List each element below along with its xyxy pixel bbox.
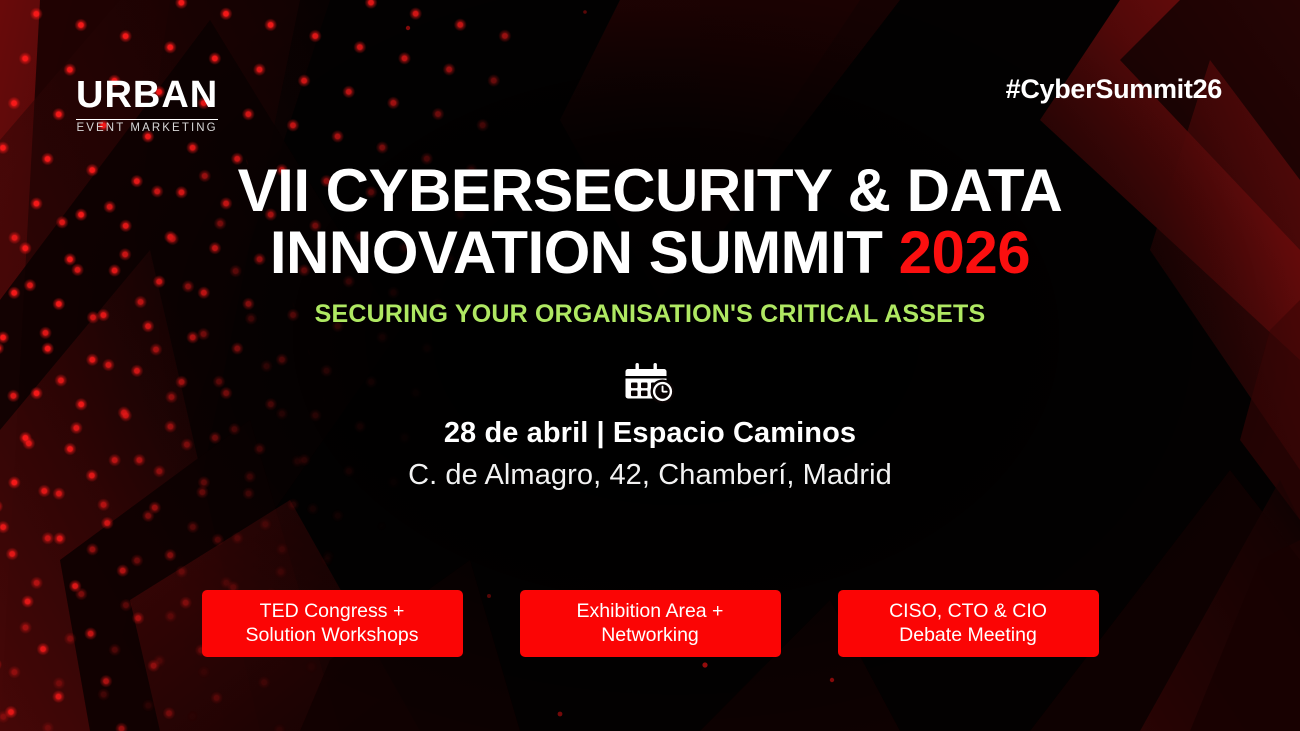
brand-logo[interactable]: URBAN EVENT MARKETING <box>76 76 218 135</box>
track-label-line-1: Exhibition Area + <box>577 600 724 622</box>
event-poster: URBAN EVENT MARKETING #CyberSummit26 VII… <box>0 0 1300 731</box>
title-line-2-text: INNOVATION SUMMIT <box>270 219 883 286</box>
track-label-line-2: Debate Meeting <box>899 624 1037 646</box>
logo-divider <box>76 119 218 120</box>
event-hashtag: #CyberSummit26 <box>1006 74 1222 105</box>
title-year: 2026 <box>899 219 1030 286</box>
logo-tagline: EVENT MARKETING <box>76 123 218 135</box>
track-label-line-1: TED Congress + <box>260 600 405 622</box>
logo-wordmark: URBAN <box>76 76 218 114</box>
title-line-1: VII CYBERSECURITY & DATA <box>0 160 1300 222</box>
title-line-2: INNOVATION SUMMIT 2026 <box>0 222 1300 284</box>
track-button-ted-congress[interactable]: TED Congress + Solution Workshops <box>202 590 463 657</box>
page-title: VII CYBERSECURITY & DATA INNOVATION SUMM… <box>0 160 1300 284</box>
track-button-exhibition-area[interactable]: Exhibition Area + Networking <box>520 590 781 657</box>
event-date-venue: 28 de abril | Espacio Caminos <box>0 417 1300 450</box>
track-label-line-1: CISO, CTO & CIO <box>889 600 1047 622</box>
track-label: Exhibition Area + Networking <box>577 600 724 648</box>
event-address: C. de Almagro, 42, Chamberí, Madrid <box>0 459 1300 492</box>
track-label-line-2: Networking <box>601 624 699 646</box>
program-tracks: TED Congress + Solution Workshops Exhibi… <box>0 590 1300 657</box>
page-subtitle: SECURING YOUR ORGANISATION'S CRITICAL AS… <box>0 300 1300 329</box>
track-label: CISO, CTO & CIO Debate Meeting <box>889 600 1047 648</box>
track-label: TED Congress + Solution Workshops <box>245 600 418 648</box>
calendar-clock-icon <box>0 363 1300 403</box>
track-label-line-2: Solution Workshops <box>245 624 418 646</box>
track-button-ciso-debate[interactable]: CISO, CTO & CIO Debate Meeting <box>838 590 1099 657</box>
